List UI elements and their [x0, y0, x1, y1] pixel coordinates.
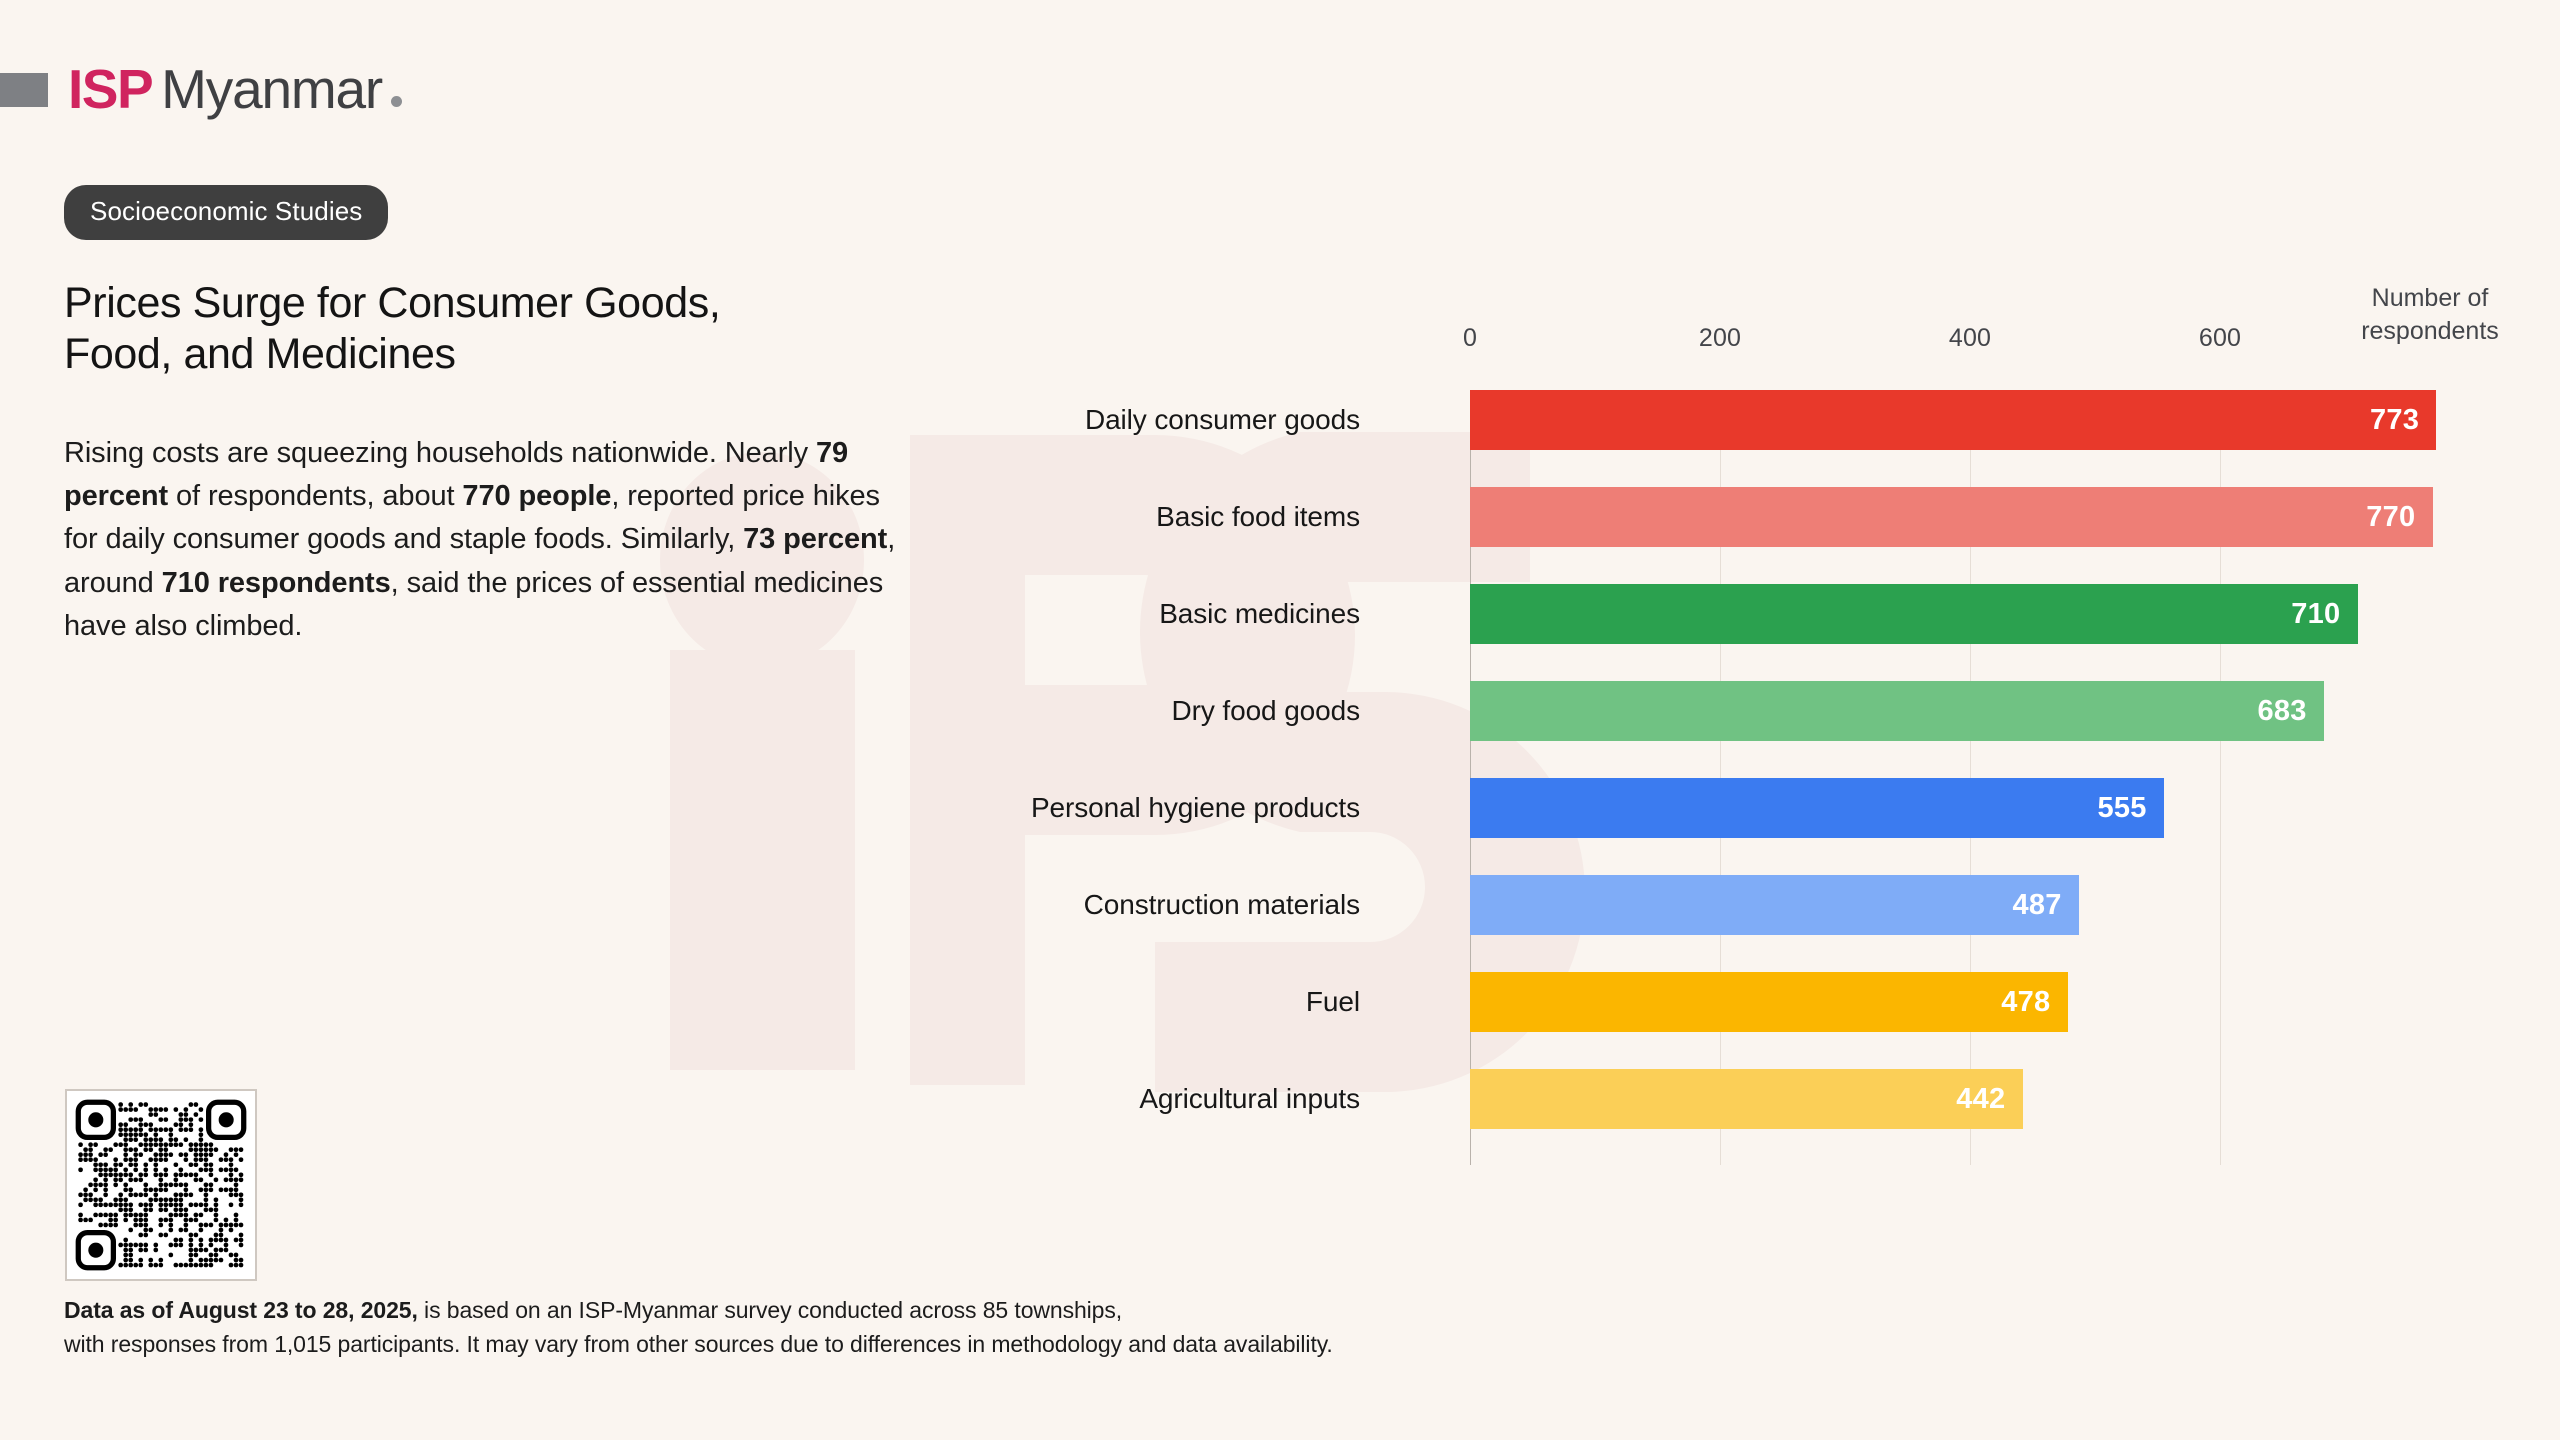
x-tick-label-0: 0	[1463, 324, 1477, 353]
bar-value-label: 770	[2366, 501, 2432, 534]
qr-code-image	[67, 1091, 255, 1279]
bar-8[interactable]: 442	[1470, 1069, 2023, 1129]
page-title: Prices Surge for Consumer Goods, Food, a…	[64, 278, 884, 380]
x-tick-label-400: 400	[1949, 324, 1991, 353]
bar-row: 478	[1470, 972, 2470, 1032]
bar-value-label: 442	[1956, 1083, 2022, 1116]
bar-value-label: 710	[2291, 598, 2357, 631]
logo-square-mark	[0, 73, 48, 107]
bar-row: 487	[1470, 875, 2470, 935]
bar-value-label: 487	[2012, 889, 2078, 922]
bar-value-label: 555	[2097, 792, 2163, 825]
bar-3[interactable]: 710	[1470, 584, 2358, 644]
summary-paragraph: Rising costs are squeezing households na…	[64, 432, 904, 648]
text-run-0-0: Rising costs are squeezing households na…	[64, 437, 816, 469]
text-run-3-0: 770 people	[462, 480, 611, 512]
bar-chart: 773770710683555487478442 Daily consumer …	[1470, 390, 2470, 1165]
bar-6[interactable]: 487	[1470, 875, 2079, 935]
bar-row: 442	[1470, 1069, 2470, 1129]
text-run-5-0: 73 percent	[743, 523, 887, 555]
qr-code[interactable]	[65, 1089, 257, 1281]
bar-row: 710	[1470, 584, 2470, 644]
category-label-4: Dry food goods	[660, 681, 1360, 741]
bar-row: 770	[1470, 487, 2470, 547]
logo-myanmar-text: Myanmar	[161, 62, 382, 117]
headline-line-2: Food, and Medicines	[64, 330, 456, 378]
text-run-1-0: is based on an ISP-Myanmar survey conduc…	[418, 1297, 1122, 1323]
text-run-2-0: of respondents, about	[168, 480, 462, 512]
bar-value-label: 773	[2370, 404, 2436, 437]
text-run-7-0: 710 respondents	[162, 567, 391, 599]
bar-value-label: 683	[2257, 695, 2323, 728]
bar-2[interactable]: 770	[1470, 487, 2433, 547]
x-axis-title: Number of respondents	[2330, 282, 2530, 349]
bar-5[interactable]: 555	[1470, 778, 2164, 838]
bar-4[interactable]: 683	[1470, 681, 2324, 741]
bar-value-label: 478	[2001, 986, 2067, 1019]
isp-myanmar-logo: ISP Myanmar	[0, 62, 402, 117]
logo-dot-icon	[391, 96, 402, 107]
bar-row: 683	[1470, 681, 2470, 741]
bar-row: 773	[1470, 390, 2470, 450]
text-run-0-0: Data as of August 23 to 28, 2025,	[64, 1297, 418, 1323]
bar-row: 555	[1470, 778, 2470, 838]
category-label-7: Fuel	[660, 972, 1360, 1032]
x-axis-ticks: 0200400600	[1470, 324, 2470, 354]
axis-title-line-2: respondents	[2361, 317, 2499, 345]
category-label-5: Personal hygiene products	[660, 778, 1360, 838]
headline-line-1: Prices Surge for Consumer Goods,	[64, 279, 720, 327]
category-label-6: Construction materials	[660, 875, 1360, 935]
infographic-page: ISP Myanmar Socioeconomic Studies Prices…	[0, 0, 2560, 1440]
chart-bars: 773770710683555487478442	[1470, 390, 2470, 1165]
source-footnote: Data as of August 23 to 28, 2025, is bas…	[64, 1293, 1564, 1361]
axis-title-line-1: Number of	[2372, 284, 2489, 312]
x-tick-label-200: 200	[1699, 324, 1741, 353]
text-run-2-1: with responses from 1,015 participants. …	[64, 1331, 1333, 1357]
bar-7[interactable]: 478	[1470, 972, 2068, 1032]
x-tick-label-600: 600	[2199, 324, 2241, 353]
logo-isp-text: ISP	[68, 62, 152, 117]
category-label-8: Agricultural inputs	[660, 1069, 1360, 1129]
category-badge: Socioeconomic Studies	[64, 185, 388, 240]
bar-1[interactable]: 773	[1470, 390, 2436, 450]
